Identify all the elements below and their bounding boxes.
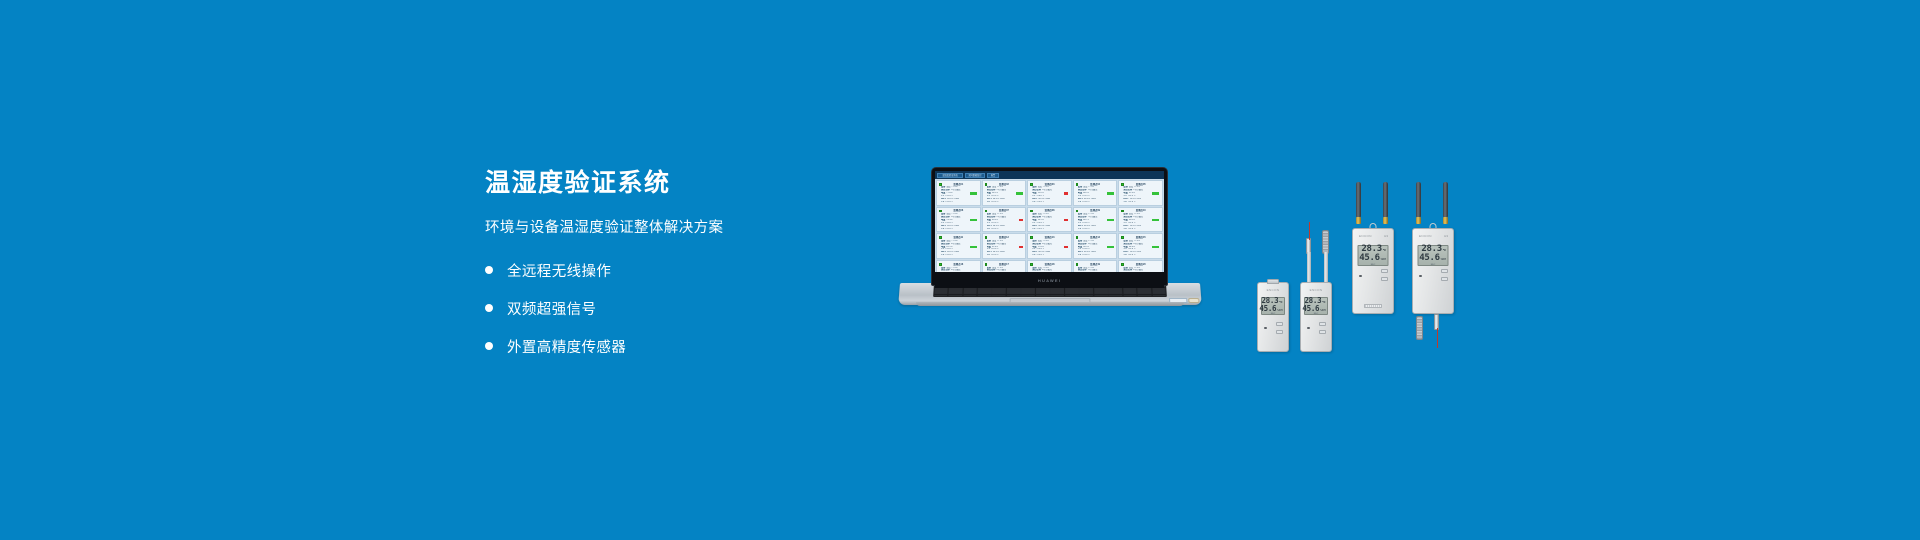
feature-list: 全远程无线操作 双频超强信号 外置高精度传感器 (485, 257, 915, 359)
sensor-card-row-key: T-2 (987, 201, 990, 204)
sensor-card-row-key: T-2 (1032, 201, 1035, 204)
sensor-card[interactable]: 监测点07设备温度 77.5%测点名称2号冷藏库电量60.5%T-1+25.8℃… (982, 207, 1027, 233)
list-item: 双频超强信号 (485, 295, 915, 321)
sensor-card[interactable]: 监测点15设备温度 77.5%测点名称3号冷藏库电量94.8%T-1+25.8℃… (1118, 233, 1163, 259)
status-dot-icon (939, 263, 942, 266)
keyboard-key[interactable] (1079, 295, 1093, 297)
sensor-card[interactable]: 监测点14设备温度 77.5%测点名称3号冷藏库电量90.2%T-1+25.8℃… (1073, 233, 1118, 259)
sensor-card[interactable]: 监测点02设备温度 77.5%测点名称1号冷藏库电量98.1%T-1+25.6℃… (982, 180, 1027, 206)
sensor-card-status-tag (1019, 246, 1023, 248)
sensor-card-grid: 监测点01设备温度 77.5%测点名称1号冷藏库电量77.8%T-1+25.8℃… (935, 179, 1164, 272)
status-dot-icon (939, 236, 942, 239)
sensor-card-status-tag (1107, 219, 1114, 221)
sensor-card-row: T-2+25.8℃ (1032, 201, 1070, 204)
device-brand: ENCON (1258, 288, 1288, 292)
sensor-card-status-tag (970, 246, 977, 248)
device-wireless-logger-2: ENCON H3 28.3 ℃ 45.6 %RH REC (1412, 228, 1454, 314)
sensor-card-row: T-2+25.8℃ (1078, 254, 1116, 257)
device-vent-grille (1364, 304, 1382, 308)
sensor-card-rows: 设备温度 77.5%测点名称2号冷藏库电量79.3%T-1+25.8℃RH-14… (938, 213, 979, 230)
sensor-card-row-value: +25.8℃ (945, 201, 953, 204)
keyboard-key[interactable] (1036, 295, 1050, 297)
logger-clip (1267, 279, 1279, 284)
sensor-card-row: T-2+25.8℃ (1123, 201, 1161, 204)
status-led-icon (1419, 275, 1422, 278)
keyboard-key[interactable] (1123, 295, 1137, 297)
lcd-temperature-unit: ℃ (1383, 249, 1386, 252)
sensor-card-row: T-2+25.8℃ (941, 228, 979, 231)
sensor-card[interactable]: 监测点04设备温度 77.5%测点名称1号冷藏库电量88.2%T-1+25.3℃… (1073, 180, 1118, 206)
device-lcd-display: 28.3 ℃ 45.6 %RH REC (1358, 245, 1389, 266)
sensor-card-title: 监测点09 (1075, 209, 1116, 212)
sensor-card-row-value: +25.8℃ (1128, 201, 1136, 204)
header-chip-monitor[interactable]: 实时数据监控 (965, 173, 985, 178)
lcd-temperature-unit: ℃ (1279, 301, 1282, 304)
sensor-card-title: 监测点13 (1029, 236, 1070, 239)
keyboard-row (934, 295, 1166, 297)
sensor-card-status-tag (1107, 192, 1114, 194)
device-lcd-display: 28.3 ℃ 45.6 %RH REC (1304, 297, 1328, 315)
sensor-card[interactable]: 监测点13设备温度 77.5%测点名称3号冷藏库电量57.6%T-1+25.8℃… (1027, 233, 1072, 259)
sensor-card-row: T-2+25.8℃ (941, 254, 979, 257)
sensor-card-title: 监测点14 (1075, 236, 1116, 239)
sensor-card[interactable]: 监测点18设备温度 77.5%测点名称4号冷藏库电量59.1%T-1+25.8℃… (1027, 260, 1072, 272)
status-dot-icon (985, 236, 988, 239)
antenna-left-connector (1416, 217, 1421, 224)
sensor-card-status-tag (1064, 192, 1068, 194)
lcd-humidity-line: 45.6 %RH (1360, 254, 1386, 264)
sensor-card-row-key: T-2 (941, 201, 944, 204)
device-button-down[interactable] (1441, 277, 1448, 282)
status-dot-icon (1121, 236, 1124, 239)
sensor-card-title: 监测点19 (1075, 263, 1116, 266)
sensor-card-row-key: T-2 (1123, 201, 1126, 204)
sensor-probe-wire (1437, 328, 1438, 348)
sensor-card-status-tag (1107, 246, 1114, 248)
status-dot-icon (1121, 263, 1124, 266)
sensor-card-row-value: +25.8℃ (1128, 228, 1136, 231)
device-lcd-display: 28.3 ℃ 45.6 %RH REC (1261, 297, 1285, 315)
status-dot-icon (1076, 236, 1079, 239)
sensor-card-row-key: T-2 (1078, 201, 1081, 204)
keyboard-key[interactable] (977, 295, 991, 297)
sensor-card-rows: 设备温度 77.5%测点名称3号冷藏库电量94.8%T-1+25.8℃RH-14… (1120, 240, 1161, 257)
keyboard-key[interactable] (1094, 295, 1108, 297)
sensor-card[interactable]: 监测点03设备温度 77.5%测点名称1号冷藏库电量65.0%T-1+26.0℃… (1027, 180, 1072, 206)
sensor-card-title: 监测点01 (938, 183, 979, 186)
lcd-footer-text: REC (1420, 264, 1446, 266)
sensor-card-row-value: +25.8℃ (1036, 201, 1044, 204)
status-dot-icon (1030, 236, 1033, 239)
sensor-card-title: 监测点18 (1029, 263, 1070, 266)
status-led-icon (1359, 275, 1362, 278)
sensor-probe-stem (1324, 252, 1328, 284)
sensor-card[interactable]: 监测点09设备温度 77.5%测点名称2号冷藏库电量86.7%T-1+25.8℃… (1073, 207, 1118, 233)
laptop-front-edge (916, 302, 1184, 306)
device-handheld-logger-1: ENCON 28.3 ℃ 45.6 %RH REC (1257, 282, 1289, 352)
bullet-icon (485, 342, 493, 350)
sensor-card-row-value: +25.8℃ (1082, 254, 1090, 257)
device-button-up[interactable] (1441, 269, 1448, 274)
lcd-footer-text: REC (1264, 313, 1283, 315)
keyboard-key[interactable] (1021, 295, 1035, 297)
sensor-card-title: 监测点05 (1120, 183, 1161, 186)
sensor-card-row: T-2+25.8℃ (1032, 228, 1070, 231)
lcd-footer-text: REC (1307, 313, 1326, 315)
keyboard-key[interactable] (1138, 295, 1152, 297)
sensor-card[interactable]: 监测点20设备温度 77.5%测点名称4号冷藏库电量92.6%T-1+25.8℃… (1118, 260, 1163, 272)
antenna-right-connector (1383, 217, 1388, 224)
laptop-sticker-gold (1188, 298, 1199, 303)
page-title: 温湿度验证系统 (485, 168, 915, 198)
lcd-humidity-value: 45.6 (1259, 305, 1276, 313)
status-led-icon (1307, 327, 1310, 330)
hero-text-block: 温湿度验证系统 环境与设备温湿度验证整体解决方案 全远程无线操作 双频超强信号 … (485, 168, 915, 371)
device-lcd-display: 28.3 ℃ 45.6 %RH REC (1418, 245, 1449, 266)
sensor-card-title: 监测点04 (1075, 183, 1116, 186)
sensor-card-title: 监测点11 (938, 236, 979, 239)
sensor-card-rows: 设备温度 77.5%测点名称4号冷藏库电量83.5%T-1+25.8℃RH-14… (938, 267, 979, 273)
device-button-down[interactable] (1276, 330, 1283, 335)
lcd-footer-text: REC (1360, 264, 1386, 266)
laptop-bezel: HUAWEI (935, 272, 1164, 288)
sensor-card-rows: 设备温度 77.5%测点名称4号冷藏库电量77.9%T-1+25.8℃RH-14… (984, 267, 1025, 273)
header-chip-title[interactable]: 温湿度验证系统 (937, 173, 963, 178)
device-brand: ENCON (1301, 288, 1331, 292)
sensor-card-row-key: T-2 (941, 228, 944, 231)
hero-banner: 温湿度验证系统 环境与设备温湿度验证整体解决方案 全远程无线操作 双频超强信号 … (0, 0, 1920, 540)
sensor-card-title: 监测点07 (984, 209, 1025, 212)
logger-body: ENCON 28.3 ℃ 45.6 %RH REC (1300, 282, 1332, 352)
sensor-card-row-value: +25.8℃ (1082, 201, 1090, 204)
device-button-down[interactable] (1319, 330, 1326, 335)
sensor-card-row-key: T-2 (1078, 254, 1081, 257)
keyboard-key[interactable] (1050, 295, 1064, 297)
sensor-card[interactable]: 监测点01设备温度 77.5%测点名称1号冷藏库电量77.8%T-1+25.8℃… (936, 180, 981, 206)
sensor-card[interactable]: 监测点08设备温度 77.5%测点名称2号冷藏库电量58.2%T-1+25.8℃… (1027, 207, 1072, 233)
sensor-card-status-tag (1019, 219, 1023, 221)
sensor-card-status-tag (1152, 192, 1159, 194)
sensor-card[interactable]: 监测点19设备温度 77.5%测点名称4号冷藏库电量87.3%T-1+25.8℃… (1073, 260, 1118, 272)
sensor-card-rows: 设备温度 77.5%测点名称4号冷藏库电量59.1%T-1+25.8℃RH-14… (1029, 267, 1070, 273)
sensor-card-rows: 设备温度 77.5%测点名称4号冷藏库电量87.3%T-1+25.8℃RH-14… (1075, 267, 1116, 273)
sensor-card-row-key: T-2 (1032, 254, 1035, 257)
sensor-card-rows: 设备温度 77.5%测点名称3号冷藏库电量57.6%T-1+25.8℃RH-14… (1029, 240, 1070, 257)
sensor-card[interactable]: 监测点12设备温度 77.5%测点名称3号冷藏库电量62.4%T-1+25.8℃… (982, 233, 1027, 259)
laptop-product-image: 温湿度验证系统 实时数据监控 报警 监测点01设备温度 77.5%测点名称1号冷… (900, 168, 1200, 303)
sensor-card-row-value: +25.8℃ (1036, 228, 1044, 231)
antenna-left-connector (1356, 217, 1361, 224)
sensor-card-row-key: T-2 (1032, 228, 1035, 231)
status-dot-icon (1121, 210, 1124, 213)
sensor-card-rows: 设备温度 77.5%测点名称1号冷藏库电量65.0%T-1+26.0℃RH-14… (1029, 186, 1070, 203)
sensor-card-rows: 设备温度 77.5%测点名称2号冷藏库电量58.2%T-1+25.8℃RH-14… (1029, 213, 1070, 230)
sensor-card[interactable]: 监测点17设备温度 77.5%测点名称4号冷藏库电量77.9%T-1+25.8℃… (982, 260, 1027, 272)
sensor-card-row: T-2+25.8℃ (987, 201, 1025, 204)
sensor-card-title: 监测点02 (984, 183, 1025, 186)
sensor-card-row: T-2+25.8℃ (1032, 254, 1070, 257)
bullet-icon (485, 304, 493, 312)
sensor-card-rows: 设备温度 77.5%测点名称3号冷藏库电量62.4%T-1+25.8℃RH-14… (984, 240, 1025, 257)
antenna-right-icon (1443, 182, 1448, 218)
sensor-card-title: 监测点08 (1029, 209, 1070, 212)
sensor-probe-mesh-icon (1416, 316, 1423, 340)
sensor-card-rows: 设备温度 77.5%测点名称2号冷藏库电量93.0%T-1+25.8℃RH-14… (1120, 213, 1161, 230)
keyboard-key[interactable] (934, 295, 948, 297)
antenna-left-icon (1416, 182, 1421, 218)
sensor-card-row: T-2+25.8℃ (987, 254, 1025, 257)
sensor-card-row: T-2+25.8℃ (1078, 201, 1116, 204)
sensor-probe-wire (1309, 222, 1310, 240)
logger-body: ENCON H3 28.3 ℃ 45.6 %RH REC (1352, 228, 1394, 314)
status-dot-icon (985, 263, 988, 266)
logger-body: ENCON H3 28.3 ℃ 45.6 %RH REC (1412, 228, 1454, 314)
sensor-card-row-value: +25.8℃ (991, 228, 999, 231)
sensor-card-row-key: T-2 (1123, 254, 1126, 257)
list-item: 外置高精度传感器 (485, 333, 915, 359)
sensor-card-title: 监测点10 (1120, 209, 1161, 212)
status-dot-icon (1030, 210, 1033, 213)
device-model: H3 (1384, 234, 1388, 238)
keyboard-key[interactable] (992, 295, 1006, 297)
sensor-card-row-key: T-2 (987, 254, 990, 257)
sensor-card[interactable]: 监测点10设备温度 77.5%测点名称2号冷藏库电量93.0%T-1+25.8℃… (1118, 207, 1163, 233)
device-button-up[interactable] (1381, 269, 1388, 274)
sensor-card-status-tag (1152, 219, 1159, 221)
sensor-card[interactable]: 监测点05设备温度 77.5%测点名称1号冷藏库电量91.4%T-1+25.9℃… (1118, 180, 1163, 206)
device-handheld-logger-2: ENCON 28.3 ℃ 45.6 %RH REC (1300, 282, 1332, 352)
sensor-card[interactable]: 监测点16设备温度 77.5%测点名称4号冷藏库电量83.5%T-1+25.8℃… (936, 260, 981, 272)
sensor-card[interactable]: 监测点11设备温度 77.5%测点名称3号冷藏库电量81.1%T-1+25.8℃… (936, 233, 981, 259)
lcd-humidity-value: 45.6 (1419, 254, 1439, 264)
lcd-humidity-unit: %RH (1277, 309, 1282, 312)
sensor-card-rows: 设备温度 77.5%测点名称1号冷藏库电量91.4%T-1+25.9℃RH-14… (1120, 186, 1161, 203)
keyboard-key[interactable] (1065, 295, 1079, 297)
sensor-card-row: T-2+25.8℃ (1123, 254, 1161, 257)
status-dot-icon (1030, 263, 1033, 266)
sensor-card-rows: 设备温度 77.5%测点名称1号冷藏库电量77.8%T-1+25.8℃RH-14… (938, 186, 979, 203)
sensor-card-rows: 设备温度 77.5%测点名称1号冷藏库电量88.2%T-1+25.3℃RH-14… (1075, 186, 1116, 203)
lcd-temperature-unit: ℃ (1443, 249, 1446, 252)
sensor-card-title: 监测点12 (984, 236, 1025, 239)
sensor-card-status-tag (970, 219, 977, 221)
device-button-down[interactable] (1381, 277, 1388, 282)
sensor-probe-stem (1307, 252, 1311, 284)
sensor-card-row-value: +25.8℃ (1128, 254, 1136, 257)
sensor-card-rows: 设备温度 77.5%测点名称2号冷藏库电量60.5%T-1+25.8℃RH-14… (984, 213, 1025, 230)
sensor-card-title: 监测点16 (938, 263, 979, 266)
lcd-humidity-unit: %RH (1320, 309, 1325, 312)
list-item: 全远程无线操作 (485, 257, 915, 283)
logger-body: ENCON 28.3 ℃ 45.6 %RH REC (1257, 282, 1289, 352)
keyboard-key[interactable] (1152, 295, 1166, 297)
sensor-card-title: 监测点06 (938, 209, 979, 212)
lcd-humidity-line: 45.6 %RH (1420, 254, 1446, 264)
antenna-left-icon (1356, 182, 1361, 218)
keyboard-key[interactable] (948, 295, 962, 297)
sensor-card-rows: 设备温度 77.5%测点名称4号冷藏库电量92.6%T-1+25.8℃RH-14… (1120, 267, 1161, 273)
sensor-card-row-value: +25.8℃ (945, 228, 953, 231)
app-header-bar: 温湿度验证系统 实时数据监控 报警 (935, 171, 1164, 179)
sensor-card-title: 监测点20 (1120, 263, 1161, 266)
feature-label: 外置高精度传感器 (507, 336, 626, 357)
laptop-brand-logo: HUAWEI (1038, 278, 1061, 283)
sensor-card-row: T-2+25.8℃ (1078, 228, 1116, 231)
sensor-card-row: T-2+25.8℃ (1123, 228, 1161, 231)
sensor-card-row-key: T-2 (1123, 228, 1126, 231)
sensor-card-row-key: T-2 (987, 228, 990, 231)
sensor-card-status-tag (1064, 219, 1068, 221)
sensor-card-rows: 设备温度 77.5%测点名称3号冷藏库电量90.2%T-1+25.8℃RH-14… (1075, 240, 1116, 257)
feature-label: 双频超强信号 (507, 298, 596, 319)
status-dot-icon (1076, 183, 1079, 186)
device-button-up[interactable] (1276, 322, 1283, 327)
header-chip-alarm[interactable]: 报警 (987, 173, 999, 178)
lcd-humidity-line: 45.6 %RH (1307, 305, 1326, 313)
sensor-card-title: 监测点17 (984, 263, 1025, 266)
device-model: H3 (1444, 234, 1448, 238)
lcd-temperature-unit: ℃ (1322, 301, 1325, 304)
sensor-card-title: 监测点03 (1029, 183, 1070, 186)
bullet-icon (485, 266, 493, 274)
status-dot-icon (1030, 183, 1033, 186)
sensor-card-row-value: +25.8℃ (1082, 228, 1090, 231)
sensor-card-status-tag (970, 192, 977, 194)
sensor-card-row-value: +25.8℃ (945, 254, 953, 257)
feature-label: 全远程无线操作 (507, 260, 611, 281)
sensor-probe-mesh-icon (1322, 230, 1329, 254)
sensor-card-row-value: +25.8℃ (991, 201, 999, 204)
status-dot-icon (1076, 263, 1079, 266)
sensor-card-rows: 设备温度 77.5%测点名称2号冷藏库电量86.7%T-1+25.8℃RH-14… (1075, 213, 1116, 230)
sensor-card-status-tag (1152, 246, 1159, 248)
keyboard-key[interactable] (1007, 295, 1021, 297)
keyboard-key[interactable] (1109, 295, 1123, 297)
antenna-right-connector (1443, 217, 1448, 224)
status-dot-icon (1076, 210, 1079, 213)
hero-subtitle: 环境与设备温湿度验证整体解决方案 (485, 216, 915, 237)
sensor-card-row-key: T-2 (941, 254, 944, 257)
status-dot-icon (1121, 183, 1124, 186)
device-wireless-logger-1: ENCON H3 28.3 ℃ 45.6 %RH REC (1352, 228, 1394, 314)
sensor-card-row-key: T-2 (1078, 228, 1081, 231)
status-led-icon (1264, 327, 1267, 330)
lcd-humidity-unit: %RH (1381, 258, 1386, 261)
laptop-screen: 温湿度验证系统 实时数据监控 报警 监测点01设备温度 77.5%测点名称1号冷… (935, 171, 1164, 272)
status-dot-icon (985, 183, 988, 186)
keyboard-key[interactable] (963, 295, 977, 297)
sensor-card-status-tag (1064, 246, 1068, 248)
antenna-right-icon (1383, 182, 1388, 218)
status-dot-icon (985, 210, 988, 213)
sensor-card-title: 监测点15 (1120, 236, 1161, 239)
sensor-card-row-value: +25.8℃ (1036, 254, 1044, 257)
lcd-humidity-value: 45.6 (1302, 305, 1319, 313)
sensor-card-row: T-2+25.8℃ (941, 201, 979, 204)
sensor-card-rows: 设备温度 77.5%测点名称1号冷藏库电量98.1%T-1+25.6℃RH-14… (984, 186, 1025, 203)
lcd-humidity-line: 45.6 %RH (1264, 305, 1283, 313)
sensor-card-row: T-2+25.8℃ (987, 228, 1025, 231)
sensor-card-status-tag (1016, 192, 1023, 194)
status-dot-icon (939, 183, 942, 186)
laptop-lid: 温湿度验证系统 实时数据监控 报警 监测点01设备温度 77.5%测点名称1号冷… (932, 168, 1167, 285)
device-button-up[interactable] (1319, 322, 1326, 327)
sensor-card[interactable]: 监测点06设备温度 77.5%测点名称2号冷藏库电量79.3%T-1+25.8℃… (936, 207, 981, 233)
lcd-humidity-value: 45.6 (1359, 254, 1379, 264)
sensor-card-row-value: +25.8℃ (991, 254, 999, 257)
lcd-humidity-unit: %RH (1441, 258, 1446, 261)
sensor-card-rows: 设备温度 77.5%测点名称3号冷藏库电量81.1%T-1+25.8℃RH-14… (938, 240, 979, 257)
status-dot-icon (939, 210, 942, 213)
